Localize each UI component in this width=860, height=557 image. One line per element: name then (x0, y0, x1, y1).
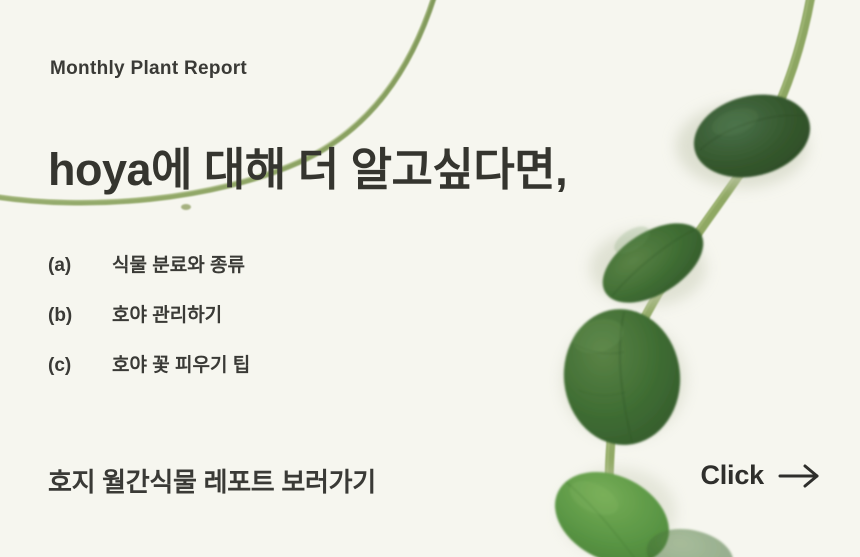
click-button-label: Click (700, 460, 764, 491)
monthly-plant-report-banner: Monthly Plant Report hoya에 대해 더 알고싶다면, (… (0, 0, 860, 557)
list-item[interactable]: (a) 식물 분료와 종류 (48, 250, 250, 300)
page-title: hoya에 대해 더 알고싶다면, (48, 143, 567, 196)
topic-list: (a) 식물 분료와 종류 (b) 호야 관리하기 (c) 호야 꽃 피우기 팁 (48, 250, 250, 400)
list-item-marker: (c) (48, 355, 112, 377)
arrow-right-icon (778, 463, 822, 489)
banner-content: Monthly Plant Report hoya에 대해 더 알고싶다면, (… (0, 0, 860, 557)
list-item[interactable]: (c) 호야 꽃 피우기 팁 (48, 350, 250, 400)
list-item-label: 식물 분료와 종류 (112, 250, 245, 277)
list-item-label: 호야 꽃 피우기 팁 (112, 350, 250, 377)
list-item-label: 호야 관리하기 (112, 300, 222, 327)
list-item-marker: (b) (48, 305, 112, 327)
list-item[interactable]: (b) 호야 관리하기 (48, 300, 250, 350)
list-item-marker: (a) (48, 255, 112, 277)
cta-description: 호지 월간식물 레포트 보러가기 (48, 462, 376, 499)
click-button[interactable]: Click (700, 460, 822, 491)
eyebrow-label: Monthly Plant Report (50, 58, 247, 80)
